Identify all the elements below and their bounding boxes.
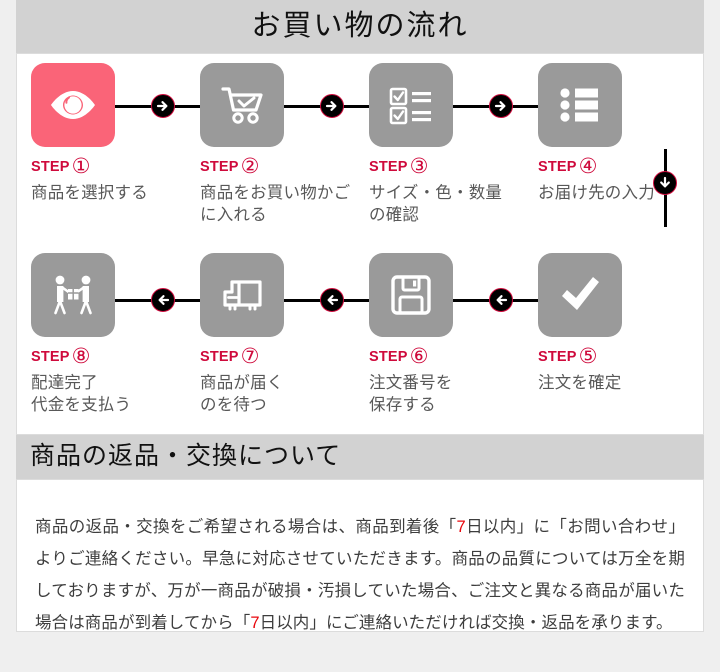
delivery-truck-icon [215,268,269,322]
step-7-label: STEP⑦ [200,347,351,367]
returns-highlight: 7 [250,614,259,632]
step-6-tile[interactable] [369,253,453,337]
arrow-left-5-6 [489,288,513,312]
step-2-prefix: STEP [200,160,239,175]
eye-icon [46,78,100,132]
flow-step-8[interactable]: STEP⑧ 配達完了代金を支払う [31,253,182,426]
flow-step-1[interactable]: STEP① 商品を選択する [31,63,182,240]
shopping-flow-page: お買い物の流れ STEP① 商品を選択する [0,0,720,672]
flow-step-3[interactable]: STEP③ サイズ・色・数量の確認 [369,63,520,240]
returns-policy-text: 商品の返品・交換をご希望される場合は、商品到着後「7日以内」に「お問い合わせ」よ… [35,511,685,640]
step-7-number: ⑦ [241,346,260,367]
returns-text-run: 商品の返品・交換をご希望される場合は、商品到着後「 [35,518,457,536]
save-floppy-icon [384,268,438,322]
step-2-text: 商品をお買い物かごに入れる [200,183,351,227]
arrow-down-4-5 [653,171,677,195]
arrow-right-3-4 [489,94,513,118]
step-3-number: ③ [410,156,429,177]
returns-text-run: 日以内」にご連絡いただければ交換・返品を承ります。 [260,614,673,632]
flow-section-title: お買い物の流れ [16,0,704,53]
step-8-prefix: STEP [31,350,70,365]
step-2-number: ② [241,156,260,177]
step-4-number: ④ [579,156,598,177]
returns-policy-box: 商品の返品・交換をご希望される場合は、商品到着後「7日以内」に「お問い合わせ」よ… [16,479,704,632]
returns-highlight: 7 [457,518,466,536]
step-2-label: STEP② [200,157,351,177]
step-3-text: サイズ・色・数量の確認 [369,183,520,227]
handover-people-icon [46,268,100,322]
step-4-prefix: STEP [538,160,577,175]
arrow-left-7-8 [151,288,175,312]
step-1-label: STEP① [31,157,182,177]
step-4-tile[interactable] [538,63,622,147]
checklist-icon [384,78,438,132]
flow-row-top: STEP① 商品を選択する STEP② [17,54,703,240]
step-7-tile[interactable] [200,253,284,337]
flow-diagram-box: STEP① 商品を選択する STEP② [16,53,704,435]
step-3-prefix: STEP [369,160,408,175]
step-6-text: 注文番号を保存する [369,373,520,417]
step-6-label: STEP⑥ [369,347,520,367]
step-6-prefix: STEP [369,350,408,365]
step-3-label: STEP③ [369,157,520,177]
flow-step-7[interactable]: STEP⑦ 商品が届くのを待つ [200,253,351,426]
step-5-label: STEP⑤ [538,347,689,367]
step-8-tile[interactable] [31,253,115,337]
flow-step-2[interactable]: STEP② 商品をお買い物かごに入れる [200,63,351,240]
address-list-icon [553,78,607,132]
step-6-number: ⑥ [410,346,429,367]
step-1-text: 商品を選択する [31,183,182,205]
step-1-tile[interactable] [31,63,115,147]
arrow-right-1-2 [151,94,175,118]
step-3-tile[interactable] [369,63,453,147]
step-5-tile[interactable] [538,253,622,337]
shopping-cart-icon [215,78,269,132]
step-8-text: 配達完了代金を支払う [31,373,182,417]
flow-step-5[interactable]: STEP⑤ 注文を確定 [538,253,689,426]
flow-row-bottom: STEP⑧ 配達完了代金を支払う [17,240,703,426]
step-7-prefix: STEP [200,350,239,365]
arrow-left-6-7 [320,288,344,312]
step-8-label: STEP⑧ [31,347,182,367]
step-5-prefix: STEP [538,350,577,365]
step-1-number: ① [72,156,91,177]
step-5-text: 注文を確定 [538,373,689,395]
arrow-right-2-3 [320,94,344,118]
step-1-prefix: STEP [31,160,70,175]
step-8-number: ⑧ [72,346,91,367]
flow-step-6[interactable]: STEP⑥ 注文番号を保存する [369,253,520,426]
returns-section-title: 商品の返品・交換について [16,435,704,479]
step-2-tile[interactable] [200,63,284,147]
step-5-number: ⑤ [579,346,598,367]
step-7-text: 商品が届くのを待つ [200,373,351,417]
check-mark-icon [553,268,607,322]
